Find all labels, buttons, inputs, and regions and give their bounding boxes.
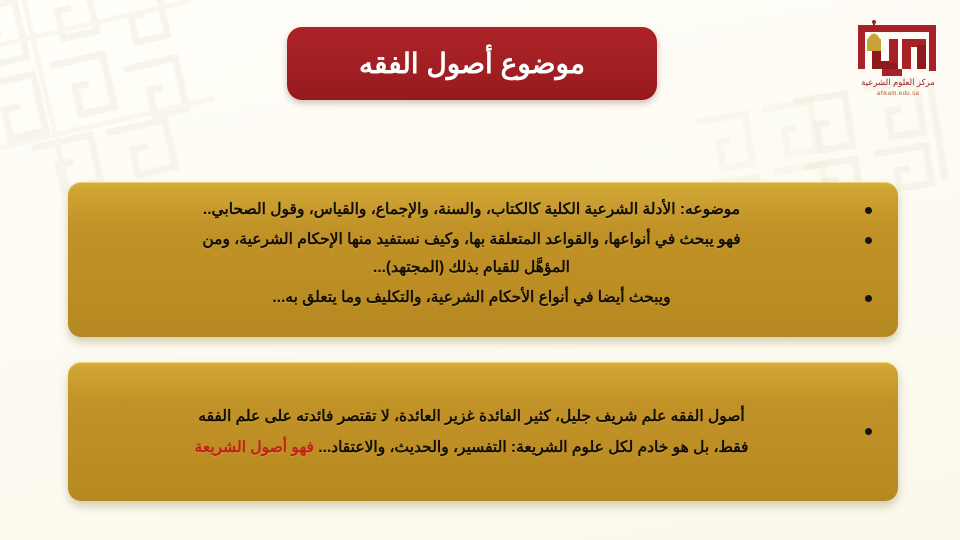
- bullet-text: أصول الفقه علم شريف جليل، كثير الفائدة غ…: [92, 401, 851, 463]
- highlight-text: فهو أصول الشريعة: [195, 439, 314, 456]
- bullet-dot-icon: [865, 207, 872, 214]
- slide-canvas: موضوع أصول الفقه مركز العلوم الشرعية ahk…: [0, 0, 960, 540]
- bullet-text-line: فقط، بل هو خادم لكل علوم الشريعة: التفسي…: [318, 439, 748, 456]
- list-item: أصول الفقه علم شريف جليل، كثير الفائدة غ…: [92, 401, 872, 463]
- bullet-text: فهو يبحث في أنواعها، والقواعد المتعلقة ب…: [92, 226, 851, 283]
- bullet-dot-icon: [865, 295, 872, 302]
- bullet-text: موضوعه: الأدلة الشرعية الكلية كالكتاب، و…: [92, 196, 851, 225]
- logo-tagline: ahkam.edu.sa: [877, 91, 920, 97]
- slide-title-banner: موضوع أصول الفقه: [287, 27, 657, 100]
- virtue-box: أصول الفقه علم شريف جليل، كثير الفائدة غ…: [68, 362, 898, 501]
- list-item: فهو يبحث في أنواعها، والقواعد المتعلقة ب…: [92, 226, 872, 283]
- logo-subtitle: مركز العلوم الشرعية: [861, 77, 935, 88]
- page-title: موضوع أصول الفقه: [359, 47, 585, 80]
- topic-box: موضوعه: الأدلة الشرعية الكلية كالكتاب، و…: [68, 182, 898, 337]
- bullet-text: ويبحث أيضا في أنواع الأحكام الشرعية، وال…: [92, 284, 851, 313]
- list-item: موضوعه: الأدلة الشرعية الكلية كالكتاب، و…: [92, 196, 872, 225]
- bullet-dot-icon: [865, 428, 872, 435]
- bullet-dot-icon: [865, 237, 872, 244]
- list-item: ويبحث أيضا في أنواع الأحكام الشرعية، وال…: [92, 284, 872, 313]
- ihkam-logo: مركز العلوم الشرعية ahkam.edu.sa: [848, 17, 948, 101]
